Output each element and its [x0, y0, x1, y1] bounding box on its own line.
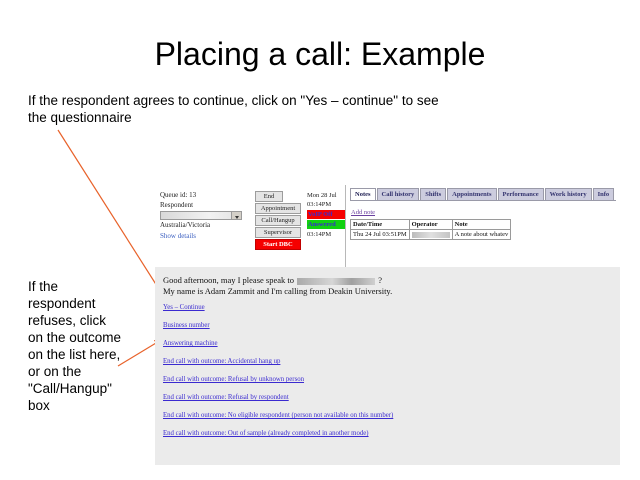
link-outcome-no-eligible-respondent[interactable]: End call with outcome: No eligible respo…: [163, 412, 620, 420]
page-title: Placing a call: Example: [0, 36, 640, 73]
link-business-number[interactable]: Business number: [163, 322, 620, 330]
embedded-app-screenshot: Queue id: 13 Respondent Australia/Victor…: [155, 185, 620, 465]
call-control-panel: Queue id: 13 Respondent Australia/Victor…: [155, 185, 345, 267]
script-greeting-after: ?: [378, 275, 382, 285]
column-header-note: Note: [452, 220, 511, 230]
status-time-top: 03:14PM: [307, 200, 345, 209]
status-date: Mon 28 Jul: [307, 191, 345, 200]
show-details-link[interactable]: Show details: [160, 231, 247, 241]
link-answering-machine[interactable]: Answering machine: [163, 340, 620, 348]
redaction-bar: [412, 232, 450, 238]
link-yes-continue[interactable]: Yes – Continue: [163, 304, 620, 312]
status-time-bottom: 03:14PM: [307, 230, 345, 239]
annotation-text-top: If the respondent agrees to continue, cl…: [28, 92, 458, 126]
link-outcome-refusal-unknown-person[interactable]: End call with outcome: Refusal by unknow…: [163, 376, 620, 384]
call-status-column: Mon 28 Jul 03:14PM VoIP Off Answered 03:…: [307, 191, 345, 267]
annotation-text-left: If the respondent refuses, click on the …: [28, 278, 123, 414]
tab-shifts[interactable]: Shifts: [420, 188, 446, 200]
table-header-row: Date/Time Operator Note: [351, 220, 511, 230]
supervisor-button[interactable]: Supervisor: [255, 227, 301, 238]
script-greeting-before: Good afternoon, may I please speak to: [163, 275, 294, 285]
app-top-band: Queue id: 13 Respondent Australia/Victor…: [155, 185, 620, 267]
tab-info[interactable]: Info: [593, 188, 615, 200]
column-header-operator: Operator: [409, 220, 452, 230]
arrow-to-script: [58, 130, 164, 297]
respondent-select[interactable]: [160, 211, 242, 220]
add-note-link[interactable]: Add note: [351, 209, 375, 216]
link-outcome-out-of-sample[interactable]: End call with outcome: Out of sample (al…: [163, 430, 620, 438]
call-script-area: Good afternoon, may I please speak to ? …: [155, 267, 620, 438]
script-greeting-line: Good afternoon, may I please speak to ?: [163, 275, 620, 286]
appointment-button[interactable]: Appointment: [255, 203, 301, 214]
table-row: Thu 24 Jul 03:51PM A note about whatev: [351, 230, 511, 240]
tab-appointments[interactable]: Appointments: [447, 188, 496, 200]
redaction-bar-name: [297, 278, 375, 285]
queue-id-label: Queue id: 13: [160, 190, 247, 200]
cell-note: A note about whatev: [452, 230, 511, 240]
tab-call-history[interactable]: Call history: [377, 188, 420, 200]
answered-status-badge: Answered: [307, 220, 345, 229]
voip-status-badge: VoIP Off: [307, 210, 345, 219]
cell-datetime: Thu 24 Jul 03:51PM: [351, 230, 410, 240]
call-action-buttons: End Appointment Call/Hangup Supervisor S…: [255, 191, 301, 267]
respondent-label: Respondent: [160, 200, 247, 210]
outcome-links-list: Yes – Continue Business number Answering…: [163, 304, 620, 438]
column-header-datetime: Date/Time: [351, 220, 410, 230]
start-dbc-button[interactable]: Start DBC: [255, 239, 301, 250]
end-button[interactable]: End: [255, 191, 283, 202]
call-hangup-button[interactable]: Call/Hangup: [255, 215, 301, 226]
notes-panel: Notes Call history Shifts Appointments P…: [345, 185, 620, 267]
tab-notes[interactable]: Notes: [350, 188, 376, 200]
link-outcome-refusal-respondent[interactable]: End call with outcome: Refusal by respon…: [163, 394, 620, 402]
notes-tabbar: Notes Call history Shifts Appointments P…: [350, 188, 616, 201]
respondent-info-column: Queue id: 13 Respondent Australia/Victor…: [160, 190, 247, 267]
slide-canvas: Placing a call: Example If the responden…: [0, 0, 640, 480]
script-intro-line: My name is Adam Zammit and I'm calling f…: [163, 286, 620, 297]
cell-operator: [409, 230, 452, 240]
tab-work-history[interactable]: Work history: [545, 188, 592, 200]
timezone-label: Australia/Victoria: [160, 220, 247, 230]
tab-performance[interactable]: Performance: [498, 188, 544, 200]
link-outcome-accidental-hangup[interactable]: End call with outcome: Accidental hang u…: [163, 358, 620, 366]
notes-table: Date/Time Operator Note Thu 24 Jul 03:51…: [350, 219, 511, 240]
